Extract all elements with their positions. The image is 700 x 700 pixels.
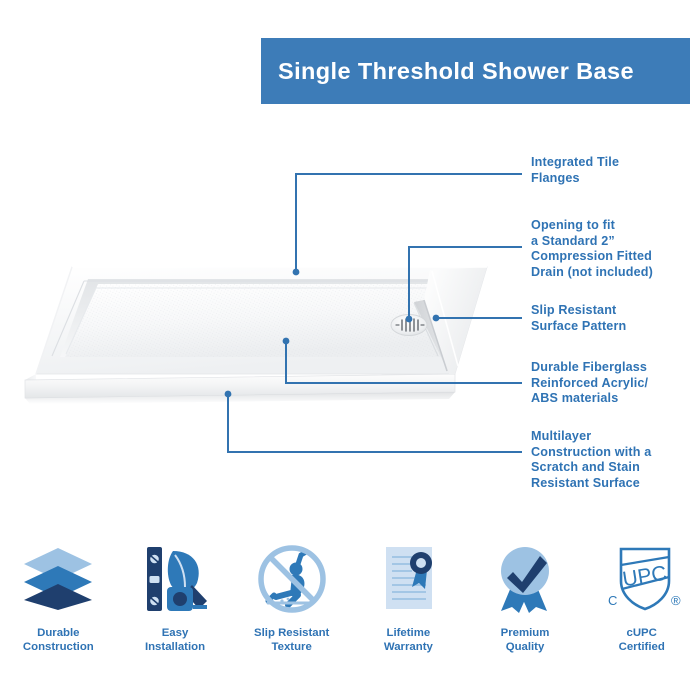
leader-dot-multilayer-construction [225, 391, 232, 398]
leader-dot-drain-opening [406, 316, 413, 323]
callout-label-integrated-tile-flanges: Integrated Tile Flanges [531, 155, 619, 186]
feature-cupc-certified: UPC C ® cUPC Certified [583, 540, 700, 690]
callout-label-durable-fiberglass: Durable Fiberglass Reinforced Acrylic/ A… [531, 360, 648, 407]
feature-caption: Lifetime Warranty [384, 627, 433, 654]
leader-dot-durable-fiberglass [283, 338, 290, 345]
feature-caption: Slip Resistant Texture [254, 627, 329, 654]
feature-durable-construction: Durable Construction [0, 540, 117, 690]
feature-badge-row: Durable Construction [0, 540, 700, 690]
infographic-canvas: Single Threshold Shower Base Integrated … [0, 0, 700, 700]
leader-dot-integrated-tile-flanges [293, 269, 300, 276]
cupc-shield-text: UPC [621, 562, 668, 592]
feature-caption: cUPC Certified [619, 627, 665, 654]
feature-slip-resistant-texture: Slip Resistant Texture [233, 540, 350, 690]
feature-caption: Premium Quality [501, 627, 550, 654]
callout-label-drain-opening: Opening to fit a Standard 2” Compression… [531, 218, 653, 280]
level-trowel-icon [137, 540, 213, 618]
feature-easy-installation: Easy Installation [117, 540, 234, 690]
feature-premium-quality: Premium Quality [467, 540, 584, 690]
cupc-right-mark: ® [671, 593, 681, 608]
leader-dot-slip-resistant-surface-pattern [433, 315, 440, 322]
feature-caption: Durable Construction [23, 627, 94, 654]
checkmark-rosette-icon [487, 540, 563, 618]
layers-icon [20, 540, 96, 618]
callout-label-slip-resistant-surface-pattern: Slip Resistant Surface Pattern [531, 303, 626, 334]
page-title: Single Threshold Shower Base [261, 58, 634, 85]
feature-caption: Easy Installation [145, 627, 205, 654]
leader-line-multilayer-construction [228, 394, 522, 452]
cupc-shield-icon: UPC C ® [599, 540, 685, 618]
warranty-document-icon [370, 540, 446, 618]
no-slip-icon [254, 540, 330, 618]
cupc-left-mark: C [608, 593, 617, 608]
callout-label-multilayer-construction: Multilayer Construction with a Scratch a… [531, 429, 651, 491]
feature-lifetime-warranty: Lifetime Warranty [350, 540, 467, 690]
title-banner: Single Threshold Shower Base [261, 38, 690, 104]
